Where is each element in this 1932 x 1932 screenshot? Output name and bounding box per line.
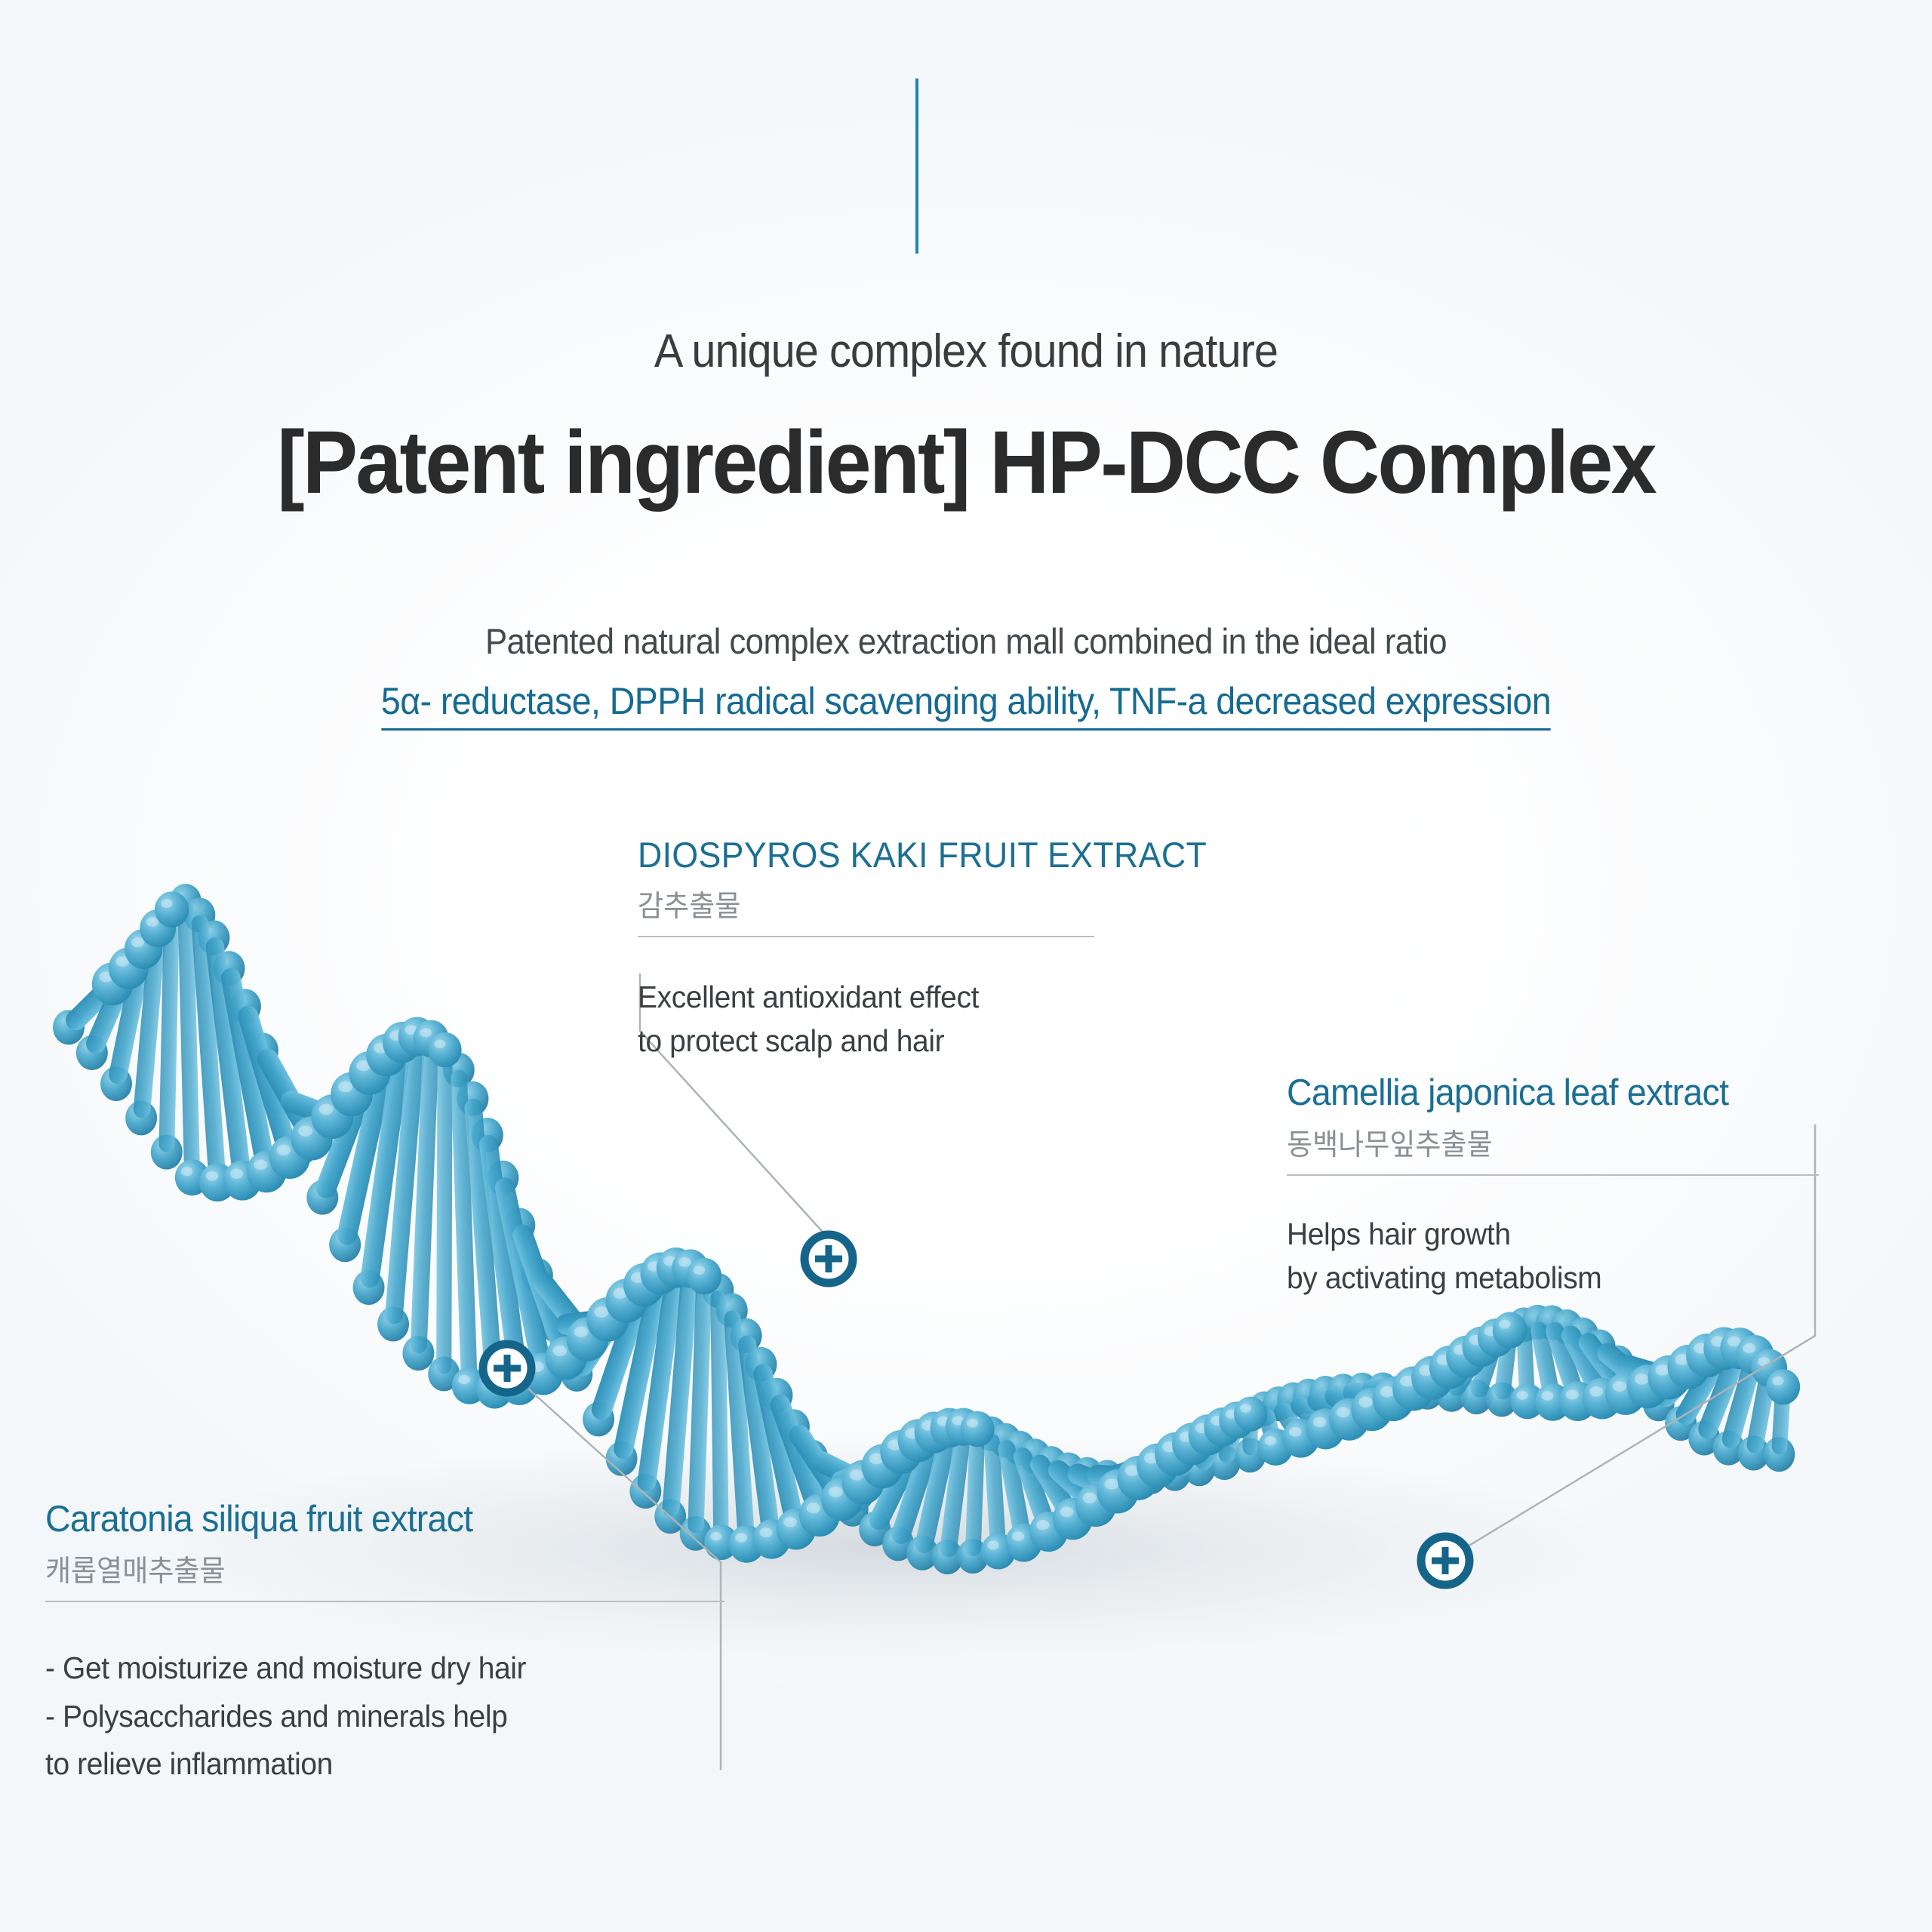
plus-marker-diospyros[interactable] bbox=[804, 1235, 853, 1283]
callout-camellia: Camellia japonica leaf extract 동백나무잎추출물 … bbox=[1287, 1072, 1819, 1300]
callout-caratonia-body-line3: to relieve inflammation bbox=[45, 1740, 691, 1789]
callout-caratonia-korean: 캐롭열매추출물 bbox=[45, 1548, 691, 1590]
callout-diospyros-korean: 감추출물 bbox=[638, 883, 1207, 925]
callout-caratonia-body-line2: - Polysaccharides and minerals help bbox=[45, 1693, 691, 1741]
callout-camellia-body-line2: by activating metabolism bbox=[1287, 1256, 1792, 1300]
callout-diospyros-title: DIOSPYROS KAKI FRUIT EXTRACT bbox=[638, 834, 1207, 875]
callout-camellia-korean: 동백나무잎추출물 bbox=[1287, 1121, 1792, 1164]
callout-caratonia-body: - Get moisturize and moisture dry hair -… bbox=[45, 1601, 724, 1789]
callout-camellia-body-line1: Helps hair growth bbox=[1287, 1212, 1792, 1256]
infographic-page: A unique complex found in nature [Patent… bbox=[0, 0, 1932, 1932]
callout-camellia-body: Helps hair growth by activating metaboli… bbox=[1287, 1174, 1819, 1300]
callout-caratonia-body-line1: - Get moisturize and moisture dry hair bbox=[45, 1644, 691, 1693]
callout-diospyros-body: Excellent antioxidant effect to protect … bbox=[638, 936, 1094, 1063]
callout-camellia-title: Camellia japonica leaf extract bbox=[1287, 1072, 1792, 1114]
callout-caratonia: Caratonia siliqua fruit extract 캐롭열매추출물 … bbox=[45, 1498, 724, 1789]
callout-diospyros: DIOSPYROS KAKI FRUIT EXTRACT 감추출물 Excell… bbox=[638, 834, 1237, 1063]
plus-marker-caratonia[interactable] bbox=[483, 1344, 531, 1392]
callout-caratonia-title: Caratonia siliqua fruit extract bbox=[45, 1498, 691, 1540]
callout-diospyros-body-line1: Excellent antioxidant effect bbox=[638, 975, 1072, 1019]
callout-diospyros-body-line2: to protect scalp and hair bbox=[638, 1019, 1072, 1063]
plus-marker-camellia[interactable] bbox=[1421, 1537, 1469, 1585]
